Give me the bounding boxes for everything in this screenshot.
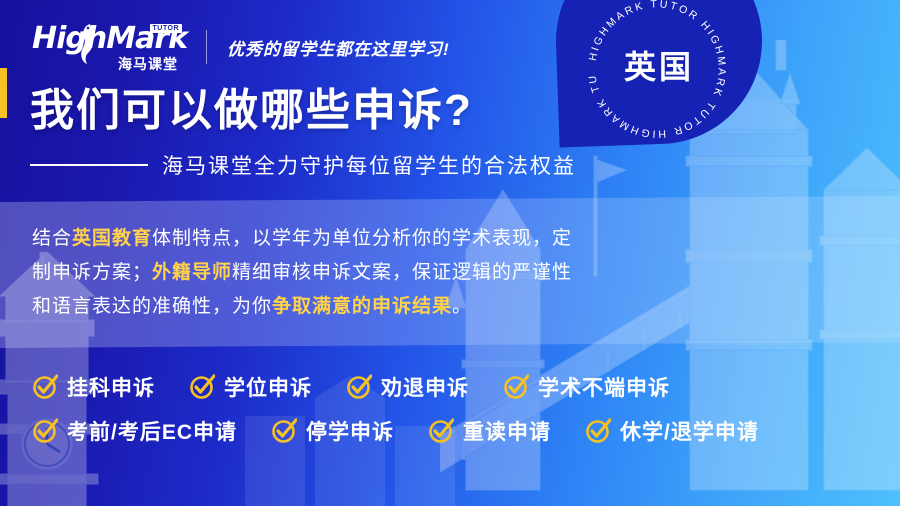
description-highlight: 争取满意的申诉结果	[272, 296, 452, 317]
brand-tagline: 优秀的留学生都在这里学习!	[227, 35, 450, 60]
country-badge: HIGHMARK TUTOR HIGHMARK TUTOR HIGHMARK T…	[556, 0, 762, 144]
service-tag-label: 休学/退学申请	[620, 416, 759, 446]
subtitle-row: 海马课堂全力守护每位留学生的合法权益	[30, 150, 576, 180]
check-circle-icon	[428, 418, 454, 444]
poster-canvas: HighMark TUTOR 海马课堂 优秀的留学生都在这里学习! HIGHMA…	[0, 0, 900, 506]
brand-header: HighMark TUTOR 海马课堂 优秀的留学生都在这里学习!	[32, 24, 450, 70]
service-tag[interactable]: 挂科申诉	[32, 372, 155, 402]
service-tag-label: 学术不端申诉	[538, 372, 670, 402]
logo-tutor-badge: TUTOR	[150, 24, 182, 33]
description-segment: 。	[452, 296, 472, 317]
description-highlight: 英国教育	[72, 228, 152, 249]
headline-block: 我们可以做哪些申诉? 海马课堂全力守护每位留学生的合法权益	[30, 86, 576, 180]
service-tag[interactable]: 休学/退学申请	[585, 416, 759, 446]
logo[interactable]: HighMark TUTOR 海马课堂	[32, 24, 180, 70]
service-tag-label: 挂科申诉	[67, 372, 155, 402]
check-circle-icon	[32, 418, 58, 444]
check-circle-icon	[271, 418, 297, 444]
logo-divider	[206, 30, 207, 64]
page-title: 我们可以做哪些申诉?	[30, 86, 576, 136]
check-circle-icon	[189, 374, 215, 400]
service-tag-list: 挂科申诉学位申诉劝退申诉学术不端申诉考前/考后EC申请停学申诉重读申请休学/退学…	[32, 372, 793, 460]
service-tag[interactable]: 学位申诉	[189, 372, 312, 402]
check-circle-icon	[503, 374, 529, 400]
check-circle-icon	[346, 374, 372, 400]
logo-chinese-name: 海马课堂	[118, 57, 178, 72]
description-accent-bar	[0, 68, 7, 118]
service-tag-row: 考前/考后EC申请停学申诉重读申请休学/退学申请	[32, 416, 793, 446]
service-tag-row: 挂科申诉学位申诉劝退申诉学术不端申诉	[32, 372, 793, 402]
country-badge-label: 英国	[556, 42, 762, 88]
check-circle-icon	[585, 418, 611, 444]
service-tag-label: 学位申诉	[224, 372, 312, 402]
service-tag-label: 考前/考后EC申请	[67, 416, 237, 446]
service-tag[interactable]: 重读申请	[428, 416, 551, 446]
service-tag-label: 劝退申诉	[381, 372, 469, 402]
service-tag[interactable]: 考前/考后EC申请	[32, 416, 237, 446]
description-text: 结合英国教育体制特点，以学年为单位分析你的学术表现，定制申诉方案；外籍导师精细审…	[32, 222, 592, 324]
description-segment: 结合	[32, 228, 72, 249]
seahorse-icon	[78, 22, 98, 66]
service-tag[interactable]: 学术不端申诉	[503, 372, 670, 402]
service-tag-label: 停学申诉	[306, 416, 394, 446]
description-highlight: 外籍导师	[152, 262, 232, 283]
page-subtitle: 海马课堂全力守护每位留学生的合法权益	[162, 150, 576, 180]
subtitle-rule	[30, 164, 148, 166]
service-tag[interactable]: 劝退申诉	[346, 372, 469, 402]
check-circle-icon	[32, 374, 58, 400]
service-tag[interactable]: 停学申诉	[271, 416, 394, 446]
service-tag-label: 重读申请	[463, 416, 551, 446]
